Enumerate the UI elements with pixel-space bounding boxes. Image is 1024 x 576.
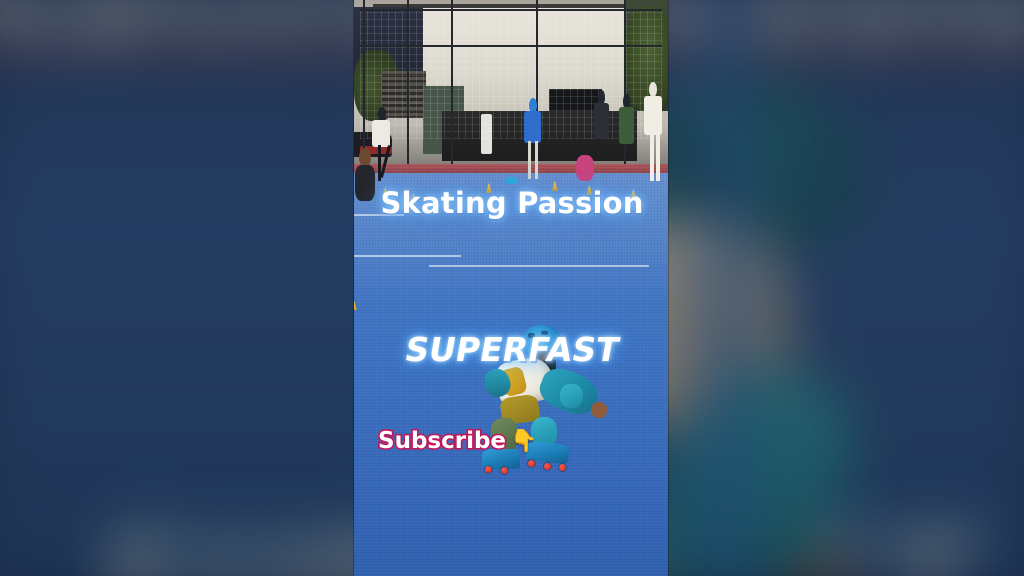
blue-marker-cone — [505, 177, 518, 184]
torso — [576, 155, 594, 181]
coach-adult — [640, 82, 668, 181]
skate-wheel — [485, 466, 492, 473]
near-child-left — [354, 148, 379, 206]
cap — [649, 82, 657, 97]
subscribe-cta[interactable]: Subscribe 👇 — [378, 428, 537, 454]
fence-rail — [360, 9, 661, 11]
main-video-frame — [354, 0, 668, 576]
skate-wheel — [559, 464, 566, 471]
torso — [644, 96, 662, 136]
video-title-overlay: Skating Passion — [380, 186, 643, 220]
torso — [594, 103, 610, 139]
video-frame-stage: Skating Passion SUPERFAST — [0, 0, 1024, 576]
leg — [528, 141, 531, 179]
right-elbow-pad — [560, 384, 583, 408]
hook-text-overlay: SUPERFAST — [402, 330, 622, 369]
skate-wheel — [544, 463, 551, 470]
far-skater-center — [517, 98, 548, 180]
pink-skate-child — [574, 148, 596, 185]
fence-post — [407, 0, 409, 164]
group-child-b — [615, 94, 640, 176]
point-down-hand-icon: 👇 — [510, 430, 537, 452]
torso — [372, 120, 390, 147]
leg — [535, 141, 538, 179]
torso — [619, 107, 635, 143]
rink-floor-line — [429, 265, 649, 267]
fence-post — [451, 0, 453, 164]
subscribe-label[interactable]: Subscribe — [378, 428, 506, 454]
rink-floor-line — [354, 255, 461, 257]
rink-floor — [354, 164, 668, 576]
backdrop-edge-strip — [708, 0, 741, 576]
fence-post — [363, 0, 365, 164]
leg — [656, 133, 660, 180]
torso — [355, 165, 375, 201]
torso — [524, 111, 542, 142]
fence-rail — [360, 45, 661, 47]
leg — [380, 145, 391, 177]
skate-wheel — [528, 460, 535, 467]
leg — [650, 133, 654, 180]
